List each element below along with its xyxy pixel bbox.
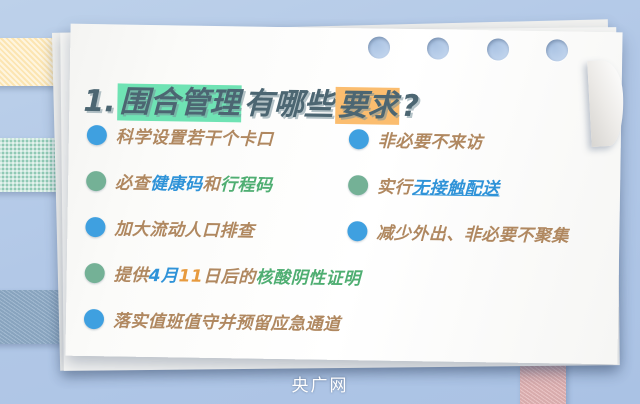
- poster-canvas: 1.围合管理有哪些要求? 科学设置若干个卡口 必查健康码和行程码 加大流动人口排…: [0, 0, 640, 404]
- list-item-label: 提供4月11日后的核酸阴性证明: [114, 260, 361, 289]
- list-item: 非必要不来访: [349, 126, 483, 153]
- bullet-dot-icon: [84, 308, 104, 328]
- watermark: 央广网: [0, 371, 640, 396]
- bullet-dot-icon: [348, 175, 368, 195]
- title-number: 1.: [81, 83, 118, 121]
- list-item: 实行无接触配送: [348, 172, 500, 199]
- list-item: 加大流动人口排查: [85, 214, 254, 242]
- list-item-label: 科学设置若干个卡口: [116, 122, 274, 149]
- list-item-label: 减少外出、非必要不聚集: [376, 219, 569, 247]
- bullet-dot-icon: [85, 262, 105, 282]
- list-item-label: 实行无接触配送: [377, 173, 500, 200]
- list-item-label: 加大流动人口排查: [114, 214, 254, 241]
- list-item: 提供4月11日后的核酸阴性证明: [85, 260, 361, 289]
- bullet-dot-icon: [85, 216, 105, 236]
- page-title: 1.围合管理有哪些要求?: [81, 76, 421, 125]
- list-item: 落实值班值守并预留应急通道: [84, 306, 341, 335]
- bullet-dot-icon: [349, 129, 369, 149]
- title-highlight-orange: 要求: [335, 87, 400, 125]
- title-middle: 有哪些: [241, 85, 336, 123]
- list-item: 必查健康码和行程码: [86, 168, 273, 196]
- list-item-label: 落实值班值守并预留应急通道: [113, 306, 341, 335]
- poster-content: 1.围合管理有哪些要求? 科学设置若干个卡口 必查健康码和行程码 加大流动人口排…: [65, 24, 622, 365]
- title-highlight-green: 围合管理: [117, 83, 242, 122]
- sticky-note-slate: [0, 290, 66, 344]
- title-question-mark: ?: [399, 88, 421, 125]
- list-item: 减少外出、非必要不聚集: [347, 218, 569, 246]
- bullet-dot-icon: [87, 124, 107, 144]
- bullet-dot-icon: [86, 170, 106, 190]
- list-item-label: 必查健康码和行程码: [115, 168, 273, 195]
- list-item: 科学设置若干个卡口: [87, 122, 274, 150]
- list-item-label: 非必要不来访: [378, 127, 483, 154]
- bullet-dot-icon: [347, 221, 367, 241]
